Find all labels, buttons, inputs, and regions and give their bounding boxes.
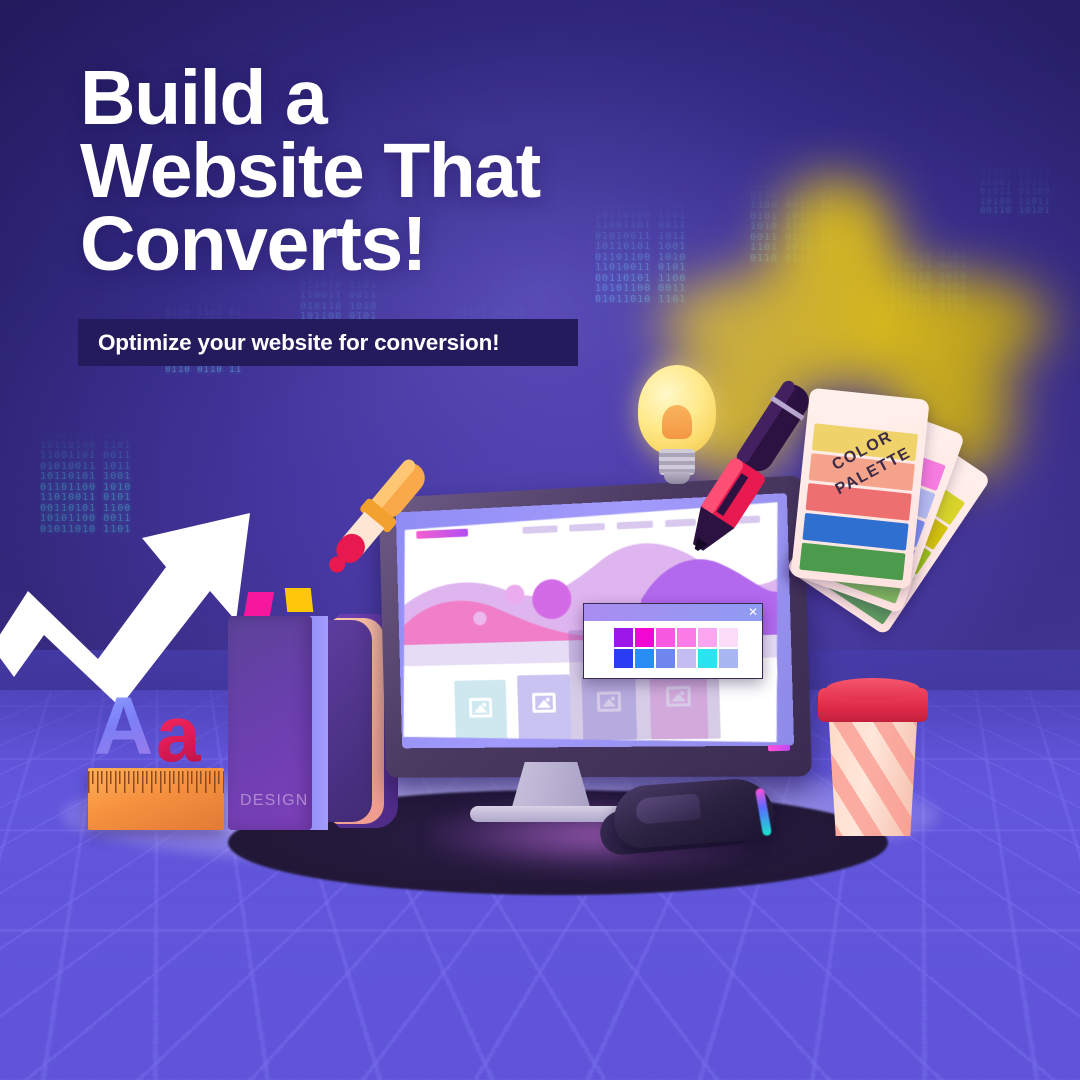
subtitle-banner: Optimize your website for conversion! [78,319,578,366]
image-placeholder-icon [469,698,492,718]
letter-a-uppercase: A [94,688,153,766]
ruler [88,768,224,830]
gaming-mouse[interactable] [600,782,780,854]
image-card-2[interactable] [517,674,571,740]
cup-stripes [824,704,922,836]
swatch[interactable] [677,628,696,647]
swatch[interactable] [635,628,654,647]
eyedropper-tool [312,447,442,587]
swatch[interactable] [719,649,738,668]
monitor-led [768,745,790,752]
nav-link-3[interactable] [617,521,653,530]
swatch[interactable] [677,649,696,668]
swatch[interactable] [698,649,717,668]
cup-lid-top [826,678,920,700]
notebook-front-cover: DESIGN [228,616,312,830]
swatch[interactable] [698,628,717,647]
headline-line-1: Build a [80,62,700,135]
palette-card-1[interactable]: COLOR PALETTE [790,388,929,590]
color-palette-fan: COLOR PALETTE [792,388,1002,638]
close-icon[interactable]: ✕ [748,605,758,620]
image-card-1[interactable] [454,680,507,742]
letter-a-lowercase: a [156,696,201,772]
swatch-grid [614,628,738,668]
nav-link-1[interactable] [522,525,557,534]
swatch[interactable] [614,628,633,647]
subtitle-text: Optimize your website for conversion! [98,330,499,356]
sticky-tab-pink [244,592,274,616]
color-picker-dialog[interactable]: ✕ [583,603,763,679]
notebook-label: DESIGN [240,792,309,810]
mouse-left-button[interactable] [635,793,701,824]
headline-line-2: Website That [80,135,700,208]
ruler-ticks-minor [88,771,224,784]
headline-line-3: Converts! [80,208,700,281]
poster-canvas: 01101101 1010 10110100 1101 11001101 001… [0,0,1080,1080]
swatch[interactable] [635,649,654,668]
swatch[interactable] [656,628,675,647]
swatch[interactable] [656,649,675,668]
sticky-tab-yellow [285,588,314,612]
typography-letters: A a [94,688,244,768]
image-placeholder-icon [532,693,556,713]
swatch[interactable] [614,649,633,668]
dialog-titlebar: ✕ [584,604,762,621]
nav-link-2[interactable] [569,523,605,532]
page-title: Build a Website That Converts! [80,62,700,281]
cup-body [824,704,922,836]
coffee-cup [818,678,928,836]
swatch[interactable] [719,628,738,647]
